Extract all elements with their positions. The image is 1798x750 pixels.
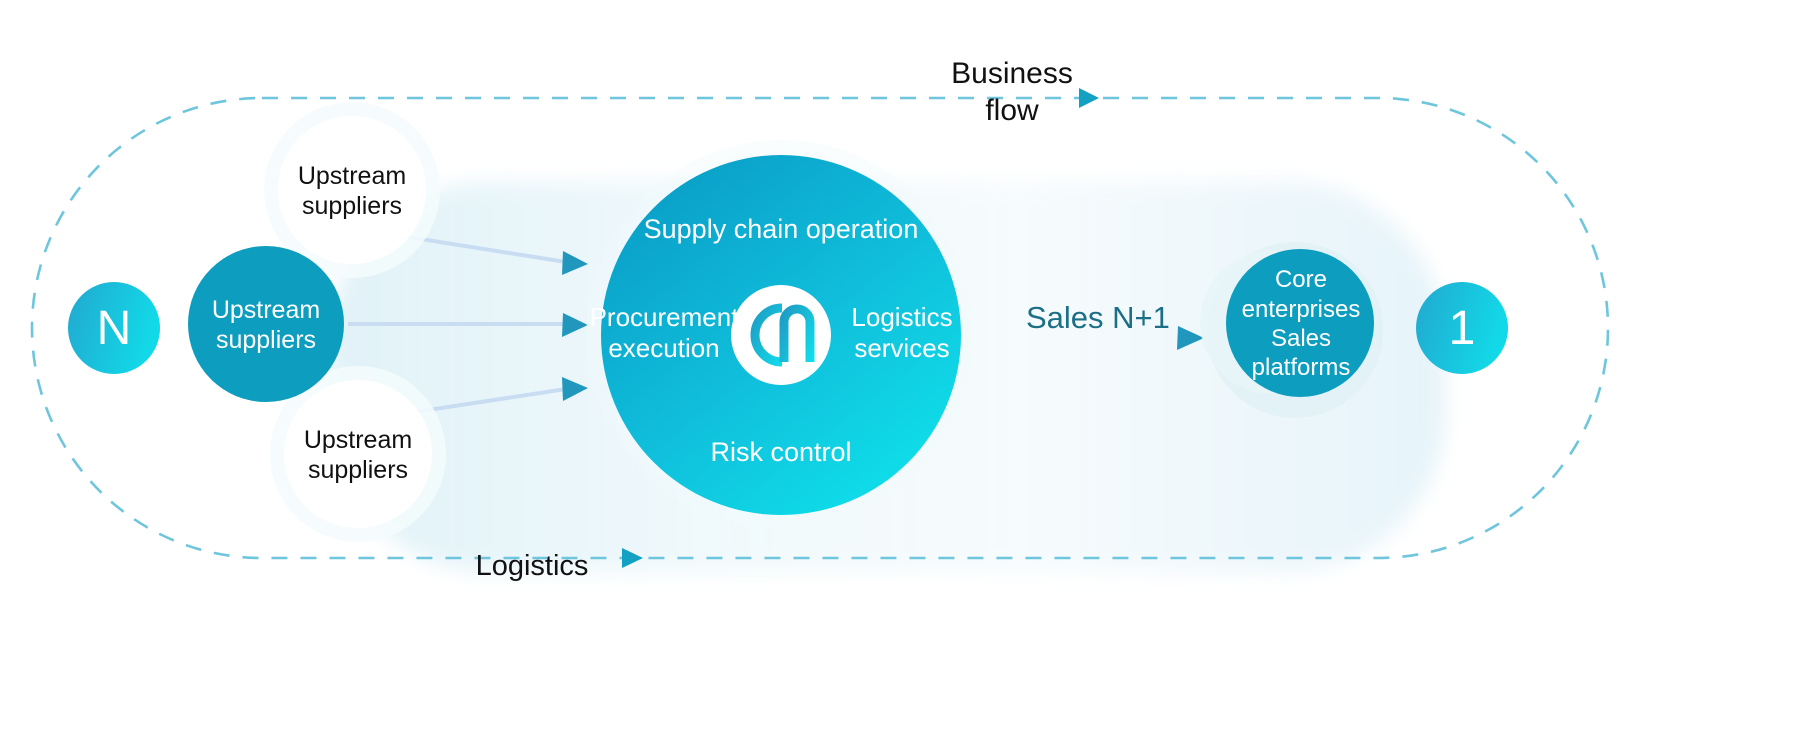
core-circle — [1226, 249, 1374, 397]
sales-connector-label: Sales N+1 — [1026, 300, 1170, 336]
supplier-circle-bottom — [277, 373, 439, 535]
ea-logo-disc — [731, 285, 831, 385]
business-flow-label: Business flow — [892, 56, 1132, 129]
supplier-circle-top — [271, 109, 433, 271]
supplier-circle-middle — [188, 246, 344, 402]
diagram-canvas: N 1 Business flow Logistics Upstream sup… — [0, 0, 1798, 750]
n-endpoint-circle — [68, 282, 160, 374]
one-endpoint-circle — [1416, 282, 1508, 374]
center-left-label: Procurement execution — [584, 302, 744, 364]
center-bottom-label: Risk control — [661, 436, 901, 468]
center-right-label: Logistics services — [832, 302, 972, 364]
logistics-flow-label: Logistics — [452, 549, 612, 584]
center-top-label: Supply chain operation — [641, 213, 921, 245]
